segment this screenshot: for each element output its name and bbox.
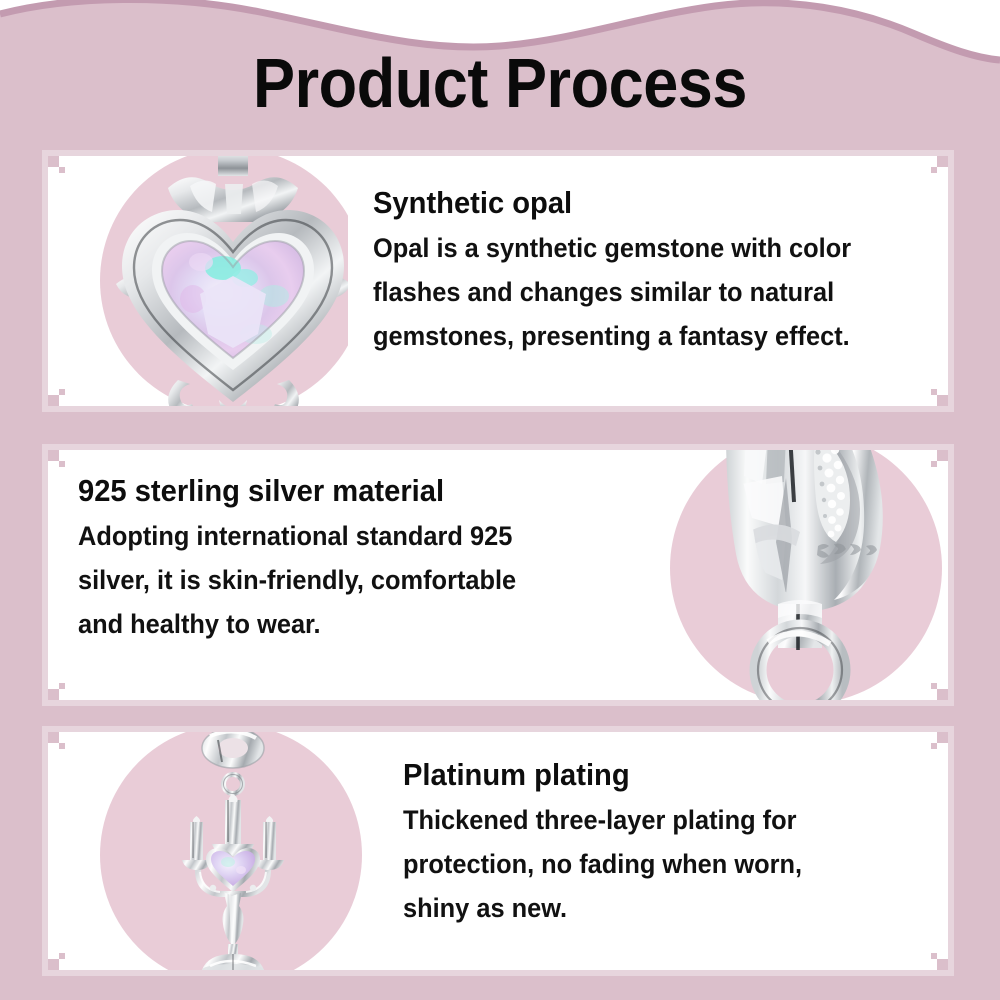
card-2-text: 925 sterling silver material Adopting in… (78, 474, 544, 646)
card-3-notch2-bottom-right (931, 953, 937, 959)
card-1-text: Synthetic opal Opal is a synthetic gemst… (373, 186, 882, 358)
card-3-text: Platinum plating Thickened three-layer p… (403, 758, 827, 930)
card-1-body-line-3: gemstones, presenting a fantasy effect. (373, 315, 851, 359)
card-3-image-area (48, 732, 388, 970)
card-3-notch2-bottom-left (59, 953, 65, 959)
candelabra-charm-icon (158, 732, 308, 970)
candle-center (225, 794, 241, 844)
card-2-body-line-3: and healthy to wear. (78, 603, 516, 647)
card-3-body-line-3: shiny as new. (403, 887, 802, 931)
card-1-heading: Synthetic opal (373, 186, 851, 220)
card-1-notch-bottom-left (48, 395, 59, 406)
arm-bead-right (250, 885, 256, 891)
card-1-body-line-2: flashes and changes similar to natural (373, 271, 851, 315)
card-3-notch-bottom-right (937, 959, 948, 970)
candelabra-base (202, 954, 264, 970)
card-2-notch2-top-left (59, 461, 65, 467)
card-2-notch2-top-right (931, 461, 937, 467)
card-1-body-line-1: Opal is a synthetic gemstone with color (373, 227, 851, 271)
card-3-notch2-top-left (59, 743, 65, 749)
arm-bead-left (210, 885, 216, 891)
card-1-notch-top-left (48, 156, 59, 167)
product-process-infographic: Product Process (0, 0, 1000, 1000)
card-platinum-plating: Platinum plating Thickened three-layer p… (48, 732, 948, 970)
silver-bail-closeup-icon (668, 450, 944, 700)
card-1-notch2-top-right (931, 167, 937, 173)
card-3-body-line-2: protection, no fading when worn, (403, 843, 802, 887)
heart-opal-charm-icon (106, 156, 348, 406)
card-1-notch2-top-left (59, 167, 65, 173)
heart-opal-small (211, 851, 255, 886)
candelabra-stem (223, 892, 244, 956)
card-3-body-line-1: Thickened three-layer plating for (403, 799, 802, 843)
card-2-body-line-2: silver, it is skin-friendly, comfortable (78, 559, 516, 603)
card-1-surface: Synthetic opal Opal is a synthetic gemst… (48, 156, 948, 406)
card-1-notch2-bottom-right (931, 389, 937, 395)
card-2-heading: 925 sterling silver material (78, 474, 516, 508)
card-3-notch-top-left (48, 732, 59, 743)
candle-left (190, 816, 203, 860)
card-3-notch-top-right (937, 732, 948, 743)
card-1-image-area (48, 156, 348, 406)
card-3-heading: Platinum plating (403, 758, 802, 792)
charm-connector-ring (224, 775, 243, 794)
card-3-notch-bottom-left (48, 959, 59, 970)
card-1-notch2-bottom-left (59, 389, 65, 395)
card-2-body-line-1: Adopting international standard 925 (78, 515, 516, 559)
card-synthetic-opal: Synthetic opal Opal is a synthetic gemst… (48, 156, 948, 406)
card-2-image-area (648, 450, 948, 700)
card-1-notch-bottom-right (937, 395, 948, 406)
card-1-notch-top-right (937, 156, 948, 167)
card-3-surface: Platinum plating Thickened three-layer p… (48, 732, 948, 970)
card-3-notch2-top-right (931, 743, 937, 749)
card-sterling-silver: 925 sterling silver material Adopting in… (48, 450, 948, 700)
card-2-notch-top-right (937, 450, 948, 461)
page-title: Product Process (50, 48, 950, 118)
card-2-notch-top-left (48, 450, 59, 461)
card-2-notch2-bottom-right (931, 683, 937, 689)
candle-right (263, 816, 276, 860)
card-2-surface: 925 sterling silver material Adopting in… (48, 450, 948, 700)
charm-bail (202, 732, 264, 768)
card-2-notch-bottom-left (48, 689, 59, 700)
card-2-notch-bottom-right (937, 689, 948, 700)
card-2-notch2-bottom-left (59, 683, 65, 689)
